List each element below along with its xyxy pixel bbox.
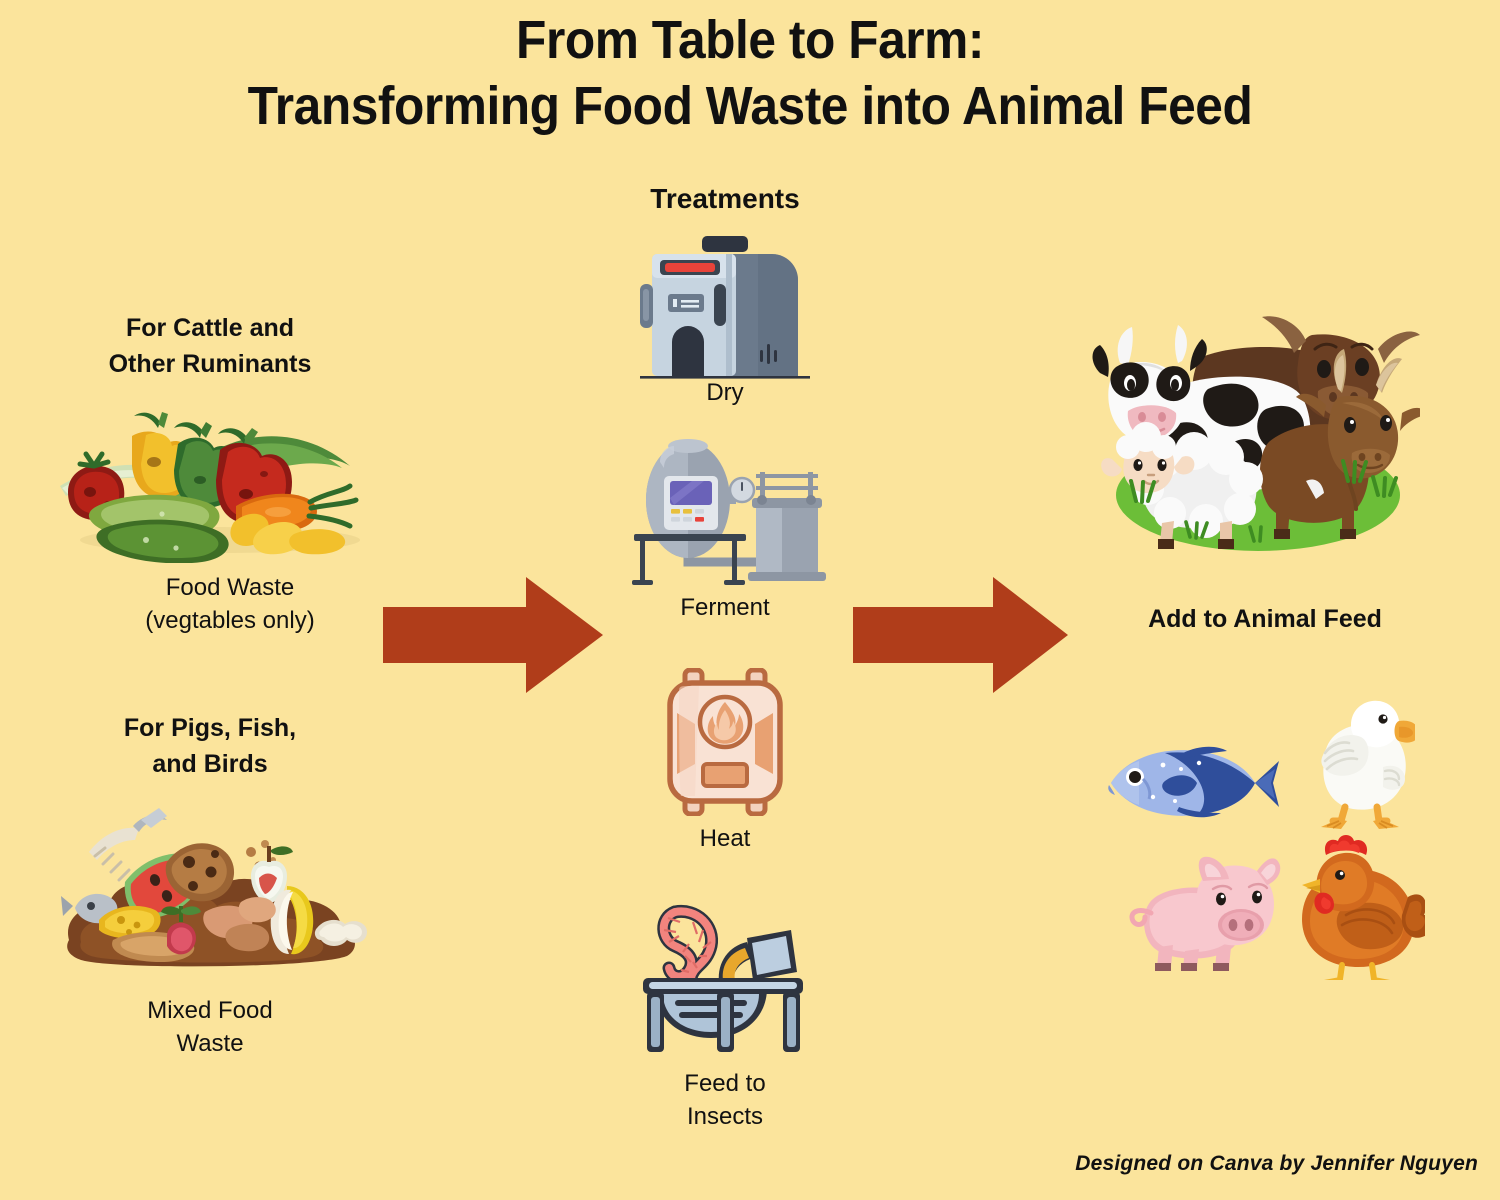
pigs-caption-line-2: Waste: [45, 1028, 375, 1061]
output-heading: Add to Animal Feed: [1090, 605, 1440, 634]
mixed-food-waste-illustration: [55, 790, 375, 975]
cattle-heading-line-1: For Cattle and: [45, 310, 375, 346]
treatment-label-heat: Heat: [575, 823, 875, 856]
cattle-heading-line-2: Other Ruminants: [45, 346, 375, 382]
arrow-treatments-to-output: [853, 575, 1068, 695]
page-title: From Table to Farm: Transforming Food Wa…: [60, 8, 1440, 140]
treatment-label-ferment: Ferment: [575, 592, 875, 625]
cattle-input-heading: For Cattle and Other Ruminants: [45, 310, 375, 383]
rotten-vegetables-illustration: [50, 388, 370, 563]
chicken-illustration: [1280, 835, 1425, 980]
treatments-heading: Treatments: [560, 183, 890, 215]
fermentation-tank-icon: [630, 438, 830, 588]
arrow-inputs-to-treatments: [383, 575, 603, 695]
pigs-input-heading: For Pigs, Fish, and Birds: [45, 710, 375, 783]
industrial-dryer-icon: [640, 232, 810, 387]
fish-illustration: [1105, 735, 1280, 830]
treatment-label-feed-to-insects: Feed to Insects: [575, 1068, 875, 1133]
infographic-canvas: From Table to Farm: Transforming Food Wa…: [0, 0, 1500, 1200]
treatment-label-dry: Dry: [575, 377, 875, 410]
boiler-flame-icon: [665, 668, 785, 816]
credit-text: Designed on Canva by Jennifer Nguyen: [1075, 1152, 1478, 1176]
duck-illustration: [1295, 695, 1415, 830]
worm-trough-icon: [635, 900, 815, 1060]
ruminant-animals-illustration: [1090, 305, 1420, 555]
pigs-heading-line-2: and Birds: [45, 746, 375, 782]
pig-illustration: [1125, 855, 1285, 975]
title-line-2: Transforming Food Waste into Animal Feed: [60, 74, 1440, 140]
title-line-1: From Table to Farm:: [60, 8, 1440, 74]
cattle-input-caption: Food Waste (vegtables only): [35, 572, 425, 637]
pigs-heading-line-1: For Pigs, Fish,: [45, 710, 375, 746]
insects-label-line-2: Insects: [575, 1101, 875, 1134]
cattle-caption-line-2: (vegtables only): [35, 605, 425, 638]
insects-label-line-1: Feed to: [575, 1068, 875, 1101]
pigs-caption-line-1: Mixed Food: [45, 995, 375, 1028]
pigs-input-caption: Mixed Food Waste: [45, 995, 375, 1060]
cattle-caption-line-1: Food Waste: [35, 572, 425, 605]
